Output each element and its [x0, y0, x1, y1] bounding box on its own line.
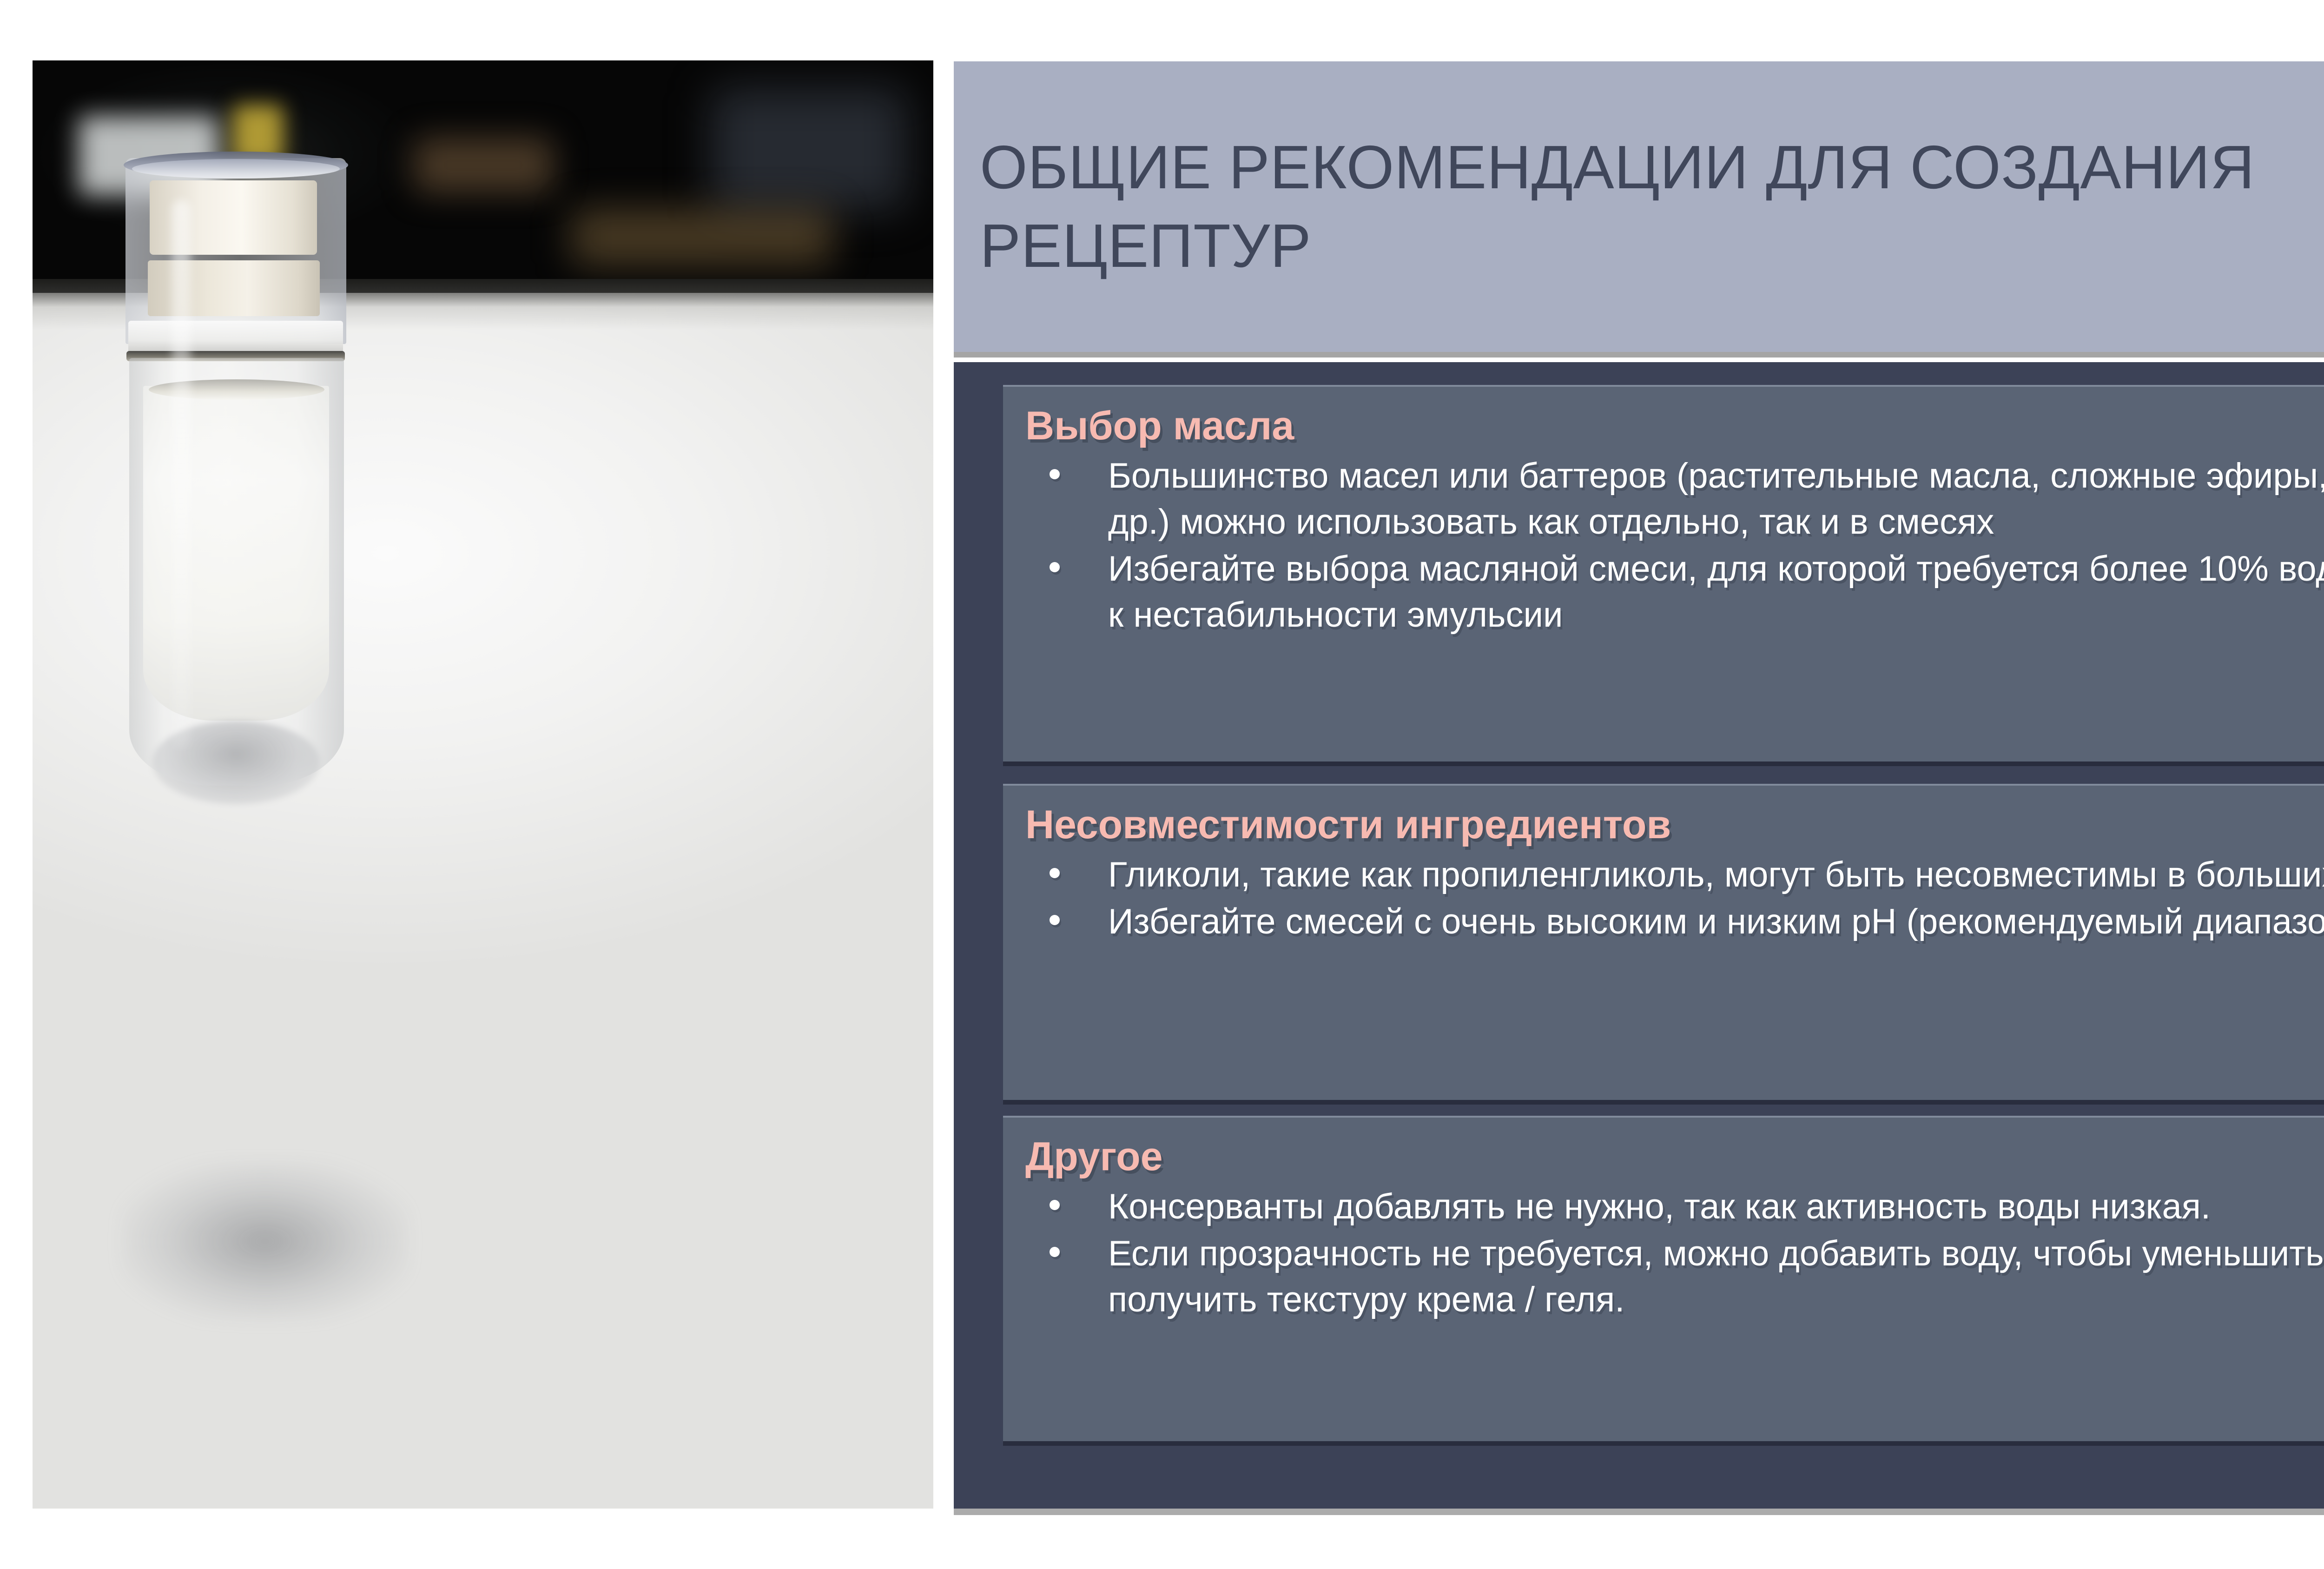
list-item-text: Гликоли, такие как пропиленгликоль, могу… [1108, 855, 2324, 894]
list-item: Большинство масел или баттеров (растител… [1025, 453, 2324, 545]
bullet-dot-icon [1050, 1200, 1060, 1210]
photo-blur-wood-edge [572, 209, 832, 265]
list-item-text: Консерванты добавлять не нужно, так как … [1108, 1187, 2211, 1226]
info-box-ingredient-incompatibilities: Несовместимости ингредиентов Гликоли, та… [1003, 784, 2324, 1100]
photo-bottle-shadow [121, 1162, 409, 1320]
photo-blur-brown-object [414, 137, 553, 193]
list-item-text: Если прозрачность не требуется, можно до… [1108, 1234, 2324, 1319]
product-photo [33, 60, 933, 1509]
page-title: ОБЩИЕ РЕКОМЕНДАЦИИ ДЛЯ СОЗДАНИЯ РЕЦЕПТУР [980, 128, 2324, 285]
bottle-highlight [172, 200, 191, 748]
list-item-text: Большинство масел или баттеров (растител… [1108, 456, 2324, 542]
list-item: Гликоли, такие как пропиленгликоль, могу… [1025, 852, 2324, 898]
bullet-dot-icon [1050, 469, 1060, 479]
bullet-dot-icon [1050, 868, 1060, 878]
bullet-list-ingredient-incompatibilities: Гликоли, такие как пропиленгликоль, могу… [1025, 852, 2324, 945]
bullet-dot-icon [1050, 915, 1060, 925]
bullet-dot-icon [1050, 562, 1060, 572]
list-item: Избегайте смесей с очень высоким и низки… [1025, 899, 2324, 945]
bullet-list-other: Консерванты добавлять не нужно, так как … [1025, 1184, 2324, 1323]
info-box-other: Другое Консерванты добавлять не нужно, т… [1003, 1116, 2324, 1441]
bottle-contents [143, 386, 329, 721]
bottle-cap-rim-inner [132, 159, 340, 179]
list-item-text: Избегайте смесей с очень высоким и низки… [1108, 902, 2324, 941]
box-heading-other: Другое [1025, 1133, 2324, 1180]
info-box-oil-selection: Выбор масла Большинство масел или баттер… [1003, 385, 2324, 761]
bullet-dot-icon [1050, 1247, 1060, 1257]
list-item: Избегайте выбора масляной смеси, для кот… [1025, 546, 2324, 638]
bullet-list-oil-selection: Большинство масел или баттеров (растител… [1025, 453, 2324, 638]
list-item: Консерванты добавлять не нужно, так как … [1025, 1184, 2324, 1230]
photo-blur-blue-object [711, 88, 906, 209]
title-band: ОБЩИЕ РЕКОМЕНДАЦИИ ДЛЯ СОЗДАНИЯ РЕЦЕПТУР [954, 61, 2324, 352]
bottle-shoulder [128, 321, 343, 353]
content-panel: Выбор масла Большинство масел или баттер… [954, 362, 2324, 1509]
box-heading-ingredient-incompatibilities: Несовместимости ингредиентов [1025, 801, 2324, 848]
box-heading-oil-selection: Выбор масла [1025, 403, 2324, 450]
list-item: Если прозрачность не требуется, можно до… [1025, 1231, 2324, 1323]
list-item-text: Избегайте выбора масляной смеси, для кот… [1108, 549, 2324, 635]
